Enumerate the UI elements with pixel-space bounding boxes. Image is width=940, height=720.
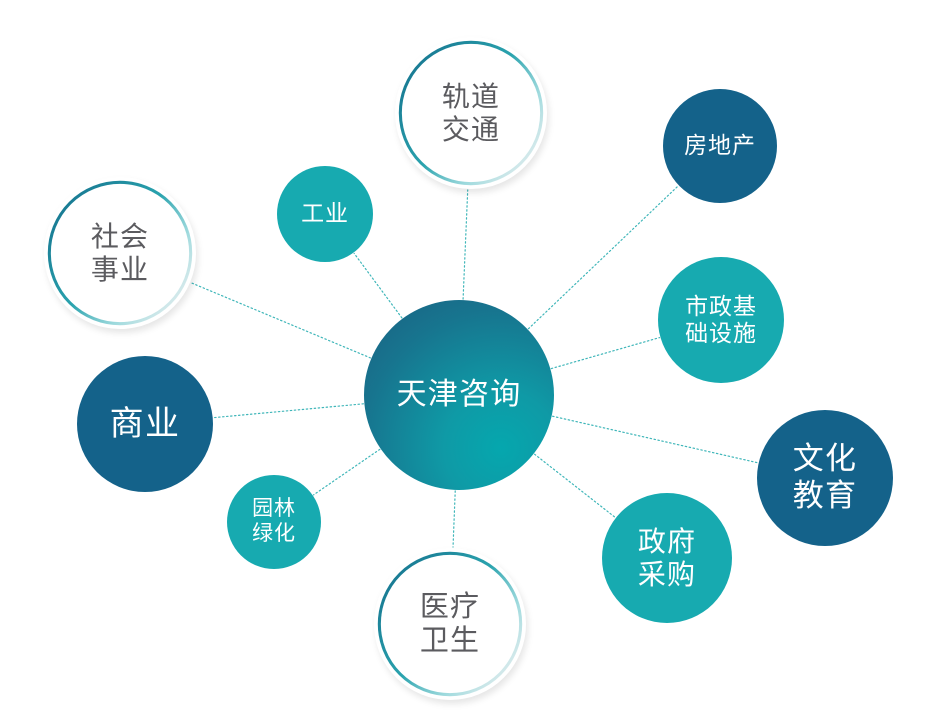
connector-government-procurement [535, 454, 615, 517]
node-culture-education-label: 文化 教育 [791, 441, 859, 514]
node-landscaping[interactable]: 园林 绿化 [227, 475, 321, 569]
connector-real-estate [528, 186, 678, 329]
connector-culture-education [553, 416, 758, 463]
node-government-procurement[interactable]: 政府 采购 [602, 493, 732, 623]
node-medical-health-label: 医疗 卫生 [418, 590, 482, 658]
node-municipal-infrastructure-label: 市政基 础设施 [683, 293, 759, 347]
node-real-estate-label: 房地产 [682, 132, 758, 159]
connector-landscaping [314, 449, 380, 495]
hub-node-tianjin-consulting[interactable]: 天津咨询 [364, 300, 554, 490]
node-social-undertakings[interactable]: 社会 事业 [44, 177, 196, 329]
node-medical-health[interactable]: 医疗 卫生 [374, 548, 526, 700]
node-industry[interactable]: 工业 [277, 166, 373, 262]
node-commerce[interactable]: 商业 [77, 356, 213, 492]
connector-industry [354, 253, 402, 317]
node-rail-transit[interactable]: 轨道 交通 [395, 37, 547, 189]
diagram-canvas: 天津咨询轨道 交通工业社会 事业商业园林 绿化医疗 卫生政府 采购文化 教育市政… [0, 0, 940, 720]
connector-commerce [214, 404, 364, 418]
node-social-undertakings-label: 社会 事业 [89, 220, 151, 286]
node-rail-transit-label: 轨道 交通 [440, 80, 502, 146]
node-government-procurement-label: 政府 采购 [636, 525, 698, 591]
connector-medical-health [453, 491, 455, 547]
node-culture-education[interactable]: 文化 教育 [757, 410, 893, 546]
node-real-estate[interactable]: 房地产 [663, 89, 777, 203]
connector-social-undertakings [191, 283, 370, 358]
node-municipal-infrastructure[interactable]: 市政基 础设施 [658, 257, 784, 383]
node-industry-label: 工业 [299, 200, 351, 227]
hub-node-tianjin-consulting-label: 天津咨询 [395, 377, 524, 412]
node-commerce-label: 商业 [108, 404, 183, 444]
connector-rail-transit [463, 190, 468, 299]
node-landscaping-label: 园林 绿化 [250, 497, 298, 547]
connector-municipal-infrastructure [551, 338, 659, 369]
